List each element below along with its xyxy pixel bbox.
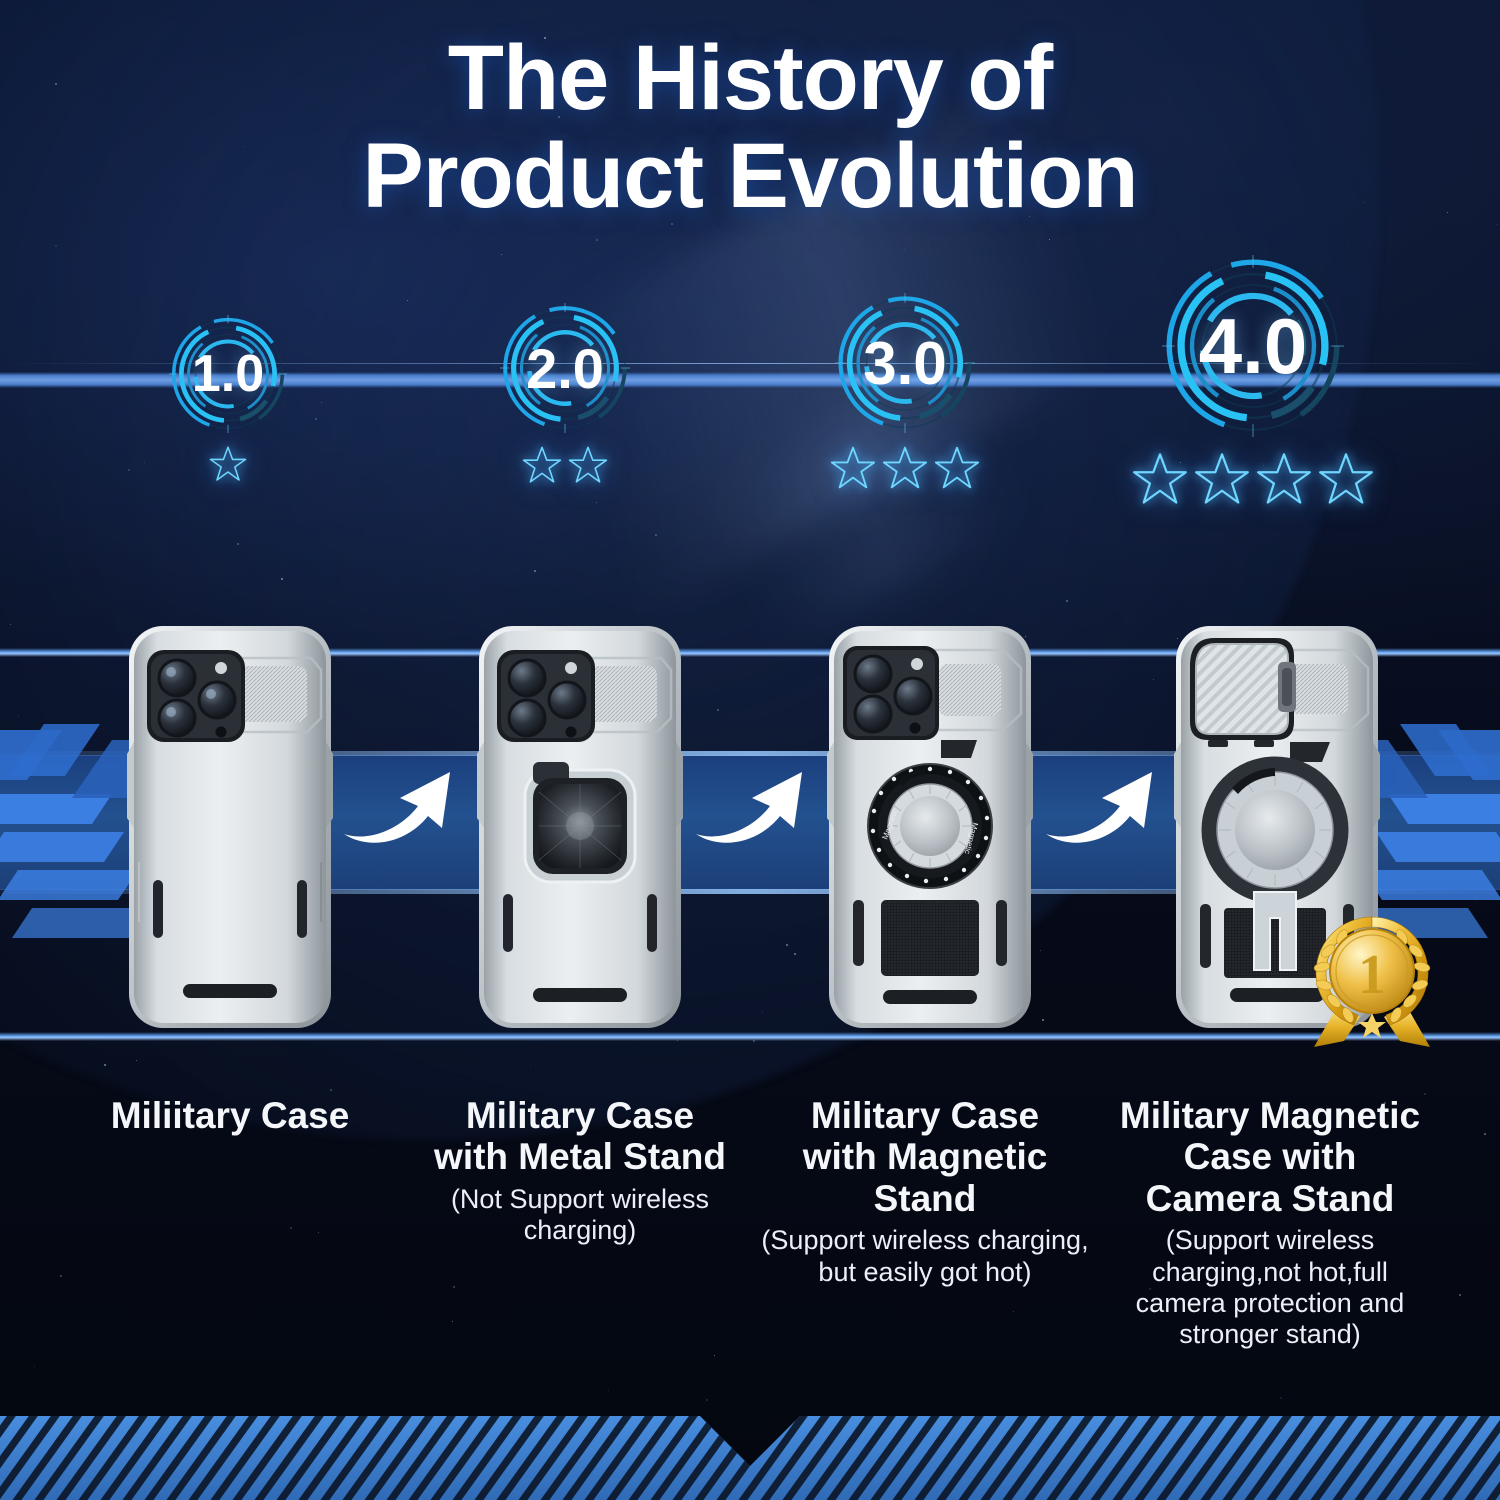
- caption-title-4-line1: Military Magnetic: [1085, 1095, 1455, 1136]
- title-line-1: The History of: [0, 30, 1500, 128]
- caption-note-4-line4: stronger stand): [1085, 1319, 1455, 1350]
- star-outline-icon: [830, 445, 876, 491]
- version-ring-2-0: 2.0: [500, 303, 630, 433]
- version-ring-1-0: 1.0: [169, 315, 287, 433]
- caption-note-2-line1: (Not Support wireless: [400, 1184, 760, 1215]
- caption-note-3-line1: (Support wireless charging,: [740, 1225, 1110, 1256]
- star-rating-1-0: [98, 445, 358, 483]
- caption-note-4-line2: charging,not hot,full: [1085, 1257, 1455, 1288]
- caption-title-4-line2: Case with: [1085, 1136, 1455, 1177]
- product-image-1[interactable]: [125, 622, 335, 1032]
- star-rating-3-0: [775, 445, 1035, 491]
- star-rating-2-0: [435, 445, 695, 485]
- caption-product-2: Military Case with Metal Stand (Not Supp…: [400, 1095, 760, 1247]
- star-outline-icon: [209, 445, 247, 483]
- version-ring-3-0: 3.0: [835, 293, 975, 433]
- star-outline-icon: [1132, 451, 1188, 507]
- version-badge-1-0[interactable]: 1.0: [98, 315, 358, 483]
- curved-arrow-right-icon-2: [690, 758, 810, 850]
- star-outline-icon: [1194, 451, 1250, 507]
- caption-product-3: Military Case with Magnetic Stand (Suppo…: [740, 1095, 1110, 1288]
- page-title: The History of Product Evolution: [0, 30, 1500, 225]
- star-outline-icon: [1256, 451, 1312, 507]
- product-image-2[interactable]: [475, 622, 685, 1032]
- star-outline-icon: [1318, 451, 1374, 507]
- gold-medal-icon: 1: [1298, 905, 1448, 1055]
- curved-arrow-right-icon-1: [338, 758, 458, 850]
- version-number-2-0: 2.0: [500, 303, 630, 433]
- caption-note-4-line1: (Support wireless: [1085, 1225, 1455, 1256]
- caption-title-4-line3: Camera Stand: [1085, 1178, 1455, 1219]
- title-line-2: Product Evolution: [0, 128, 1500, 226]
- version-badge-2-0[interactable]: 2.0: [435, 303, 695, 485]
- product-captions: Miliitary Case Military Case with Metal …: [0, 1095, 1500, 1395]
- version-number-4-0: 4.0: [1162, 255, 1344, 437]
- star-outline-icon: [934, 445, 980, 491]
- caption-title-3-line1: Military Case: [740, 1095, 1110, 1136]
- star-outline-icon: [522, 445, 562, 485]
- caption-title-3-line3: Stand: [740, 1178, 1110, 1219]
- star-outline-icon: [882, 445, 928, 491]
- curved-arrow-right-icon-3: [1040, 758, 1160, 850]
- caption-product-4: Military Magnetic Case with Camera Stand…: [1085, 1095, 1455, 1351]
- caption-title-3-line2: with Magnetic: [740, 1136, 1110, 1177]
- version-badge-3-0[interactable]: 3.0: [775, 293, 1035, 491]
- version-badge-row: 1.02.03.04.0: [0, 255, 1500, 585]
- star-rating-4-0: [1123, 451, 1383, 507]
- caption-title-1-line1: Miliitary Case: [50, 1095, 410, 1136]
- infographic-root: The History of Product Evolution 1.02.03…: [0, 0, 1500, 1500]
- version-badge-4-0[interactable]: 4.0: [1123, 255, 1383, 507]
- star-outline-icon: [568, 445, 608, 485]
- caption-note-2-line2: charging): [400, 1215, 760, 1246]
- product-image-3[interactable]: Magnetic Magnetic: [825, 622, 1035, 1032]
- version-number-3-0: 3.0: [835, 293, 975, 433]
- caption-title-2-line1: Military Case: [400, 1095, 760, 1136]
- caption-note-4-line3: camera protection and: [1085, 1288, 1455, 1319]
- bottom-stripe-band: [0, 1380, 1500, 1500]
- caption-title-2-line2: with Metal Stand: [400, 1136, 760, 1177]
- medal-number: 1: [1358, 944, 1386, 1006]
- version-ring-4-0: 4.0: [1162, 255, 1344, 437]
- caption-note-3-line2: but easily got hot): [740, 1257, 1110, 1288]
- caption-product-1: Miliitary Case: [50, 1095, 410, 1136]
- version-number-1-0: 1.0: [169, 315, 287, 433]
